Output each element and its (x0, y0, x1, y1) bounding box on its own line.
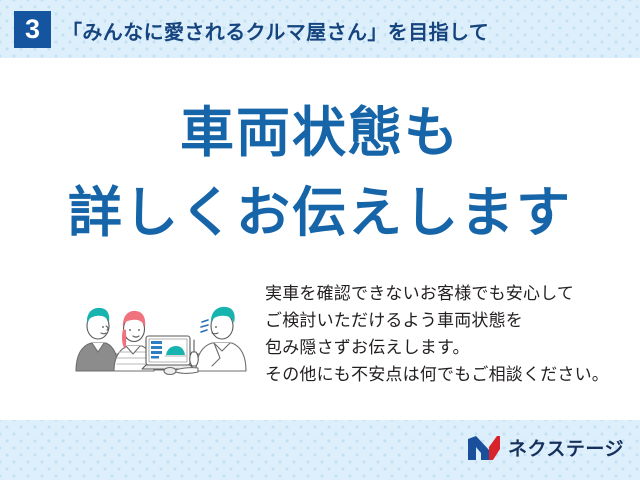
advertisement-page: 3 「みんなに愛されるクルマ屋さん」を目指して 車両状態も 詳しくお伝えします (0, 0, 640, 480)
section-number-badge: 3 (14, 11, 51, 48)
nexstage-n-logo-icon (467, 435, 501, 461)
body-copy: 実車を確認できないお客様でも安心して ご検討いただけるよう車両状態を 包み隠さず… (265, 280, 615, 388)
consultation-illustration (62, 270, 252, 385)
consultation-illustration-svg (62, 270, 252, 385)
body-line: 包み隠さずお伝えします。 (265, 334, 615, 361)
header-title: 「みんなに愛されるクルマ屋さん」を目指して (62, 12, 489, 48)
headline-line-1: 車両状態も (0, 104, 640, 162)
body-line: 実車を確認できないお客様でも安心して (265, 280, 615, 307)
brand-logo: ネクステージ (467, 434, 624, 461)
brand-name: ネクステージ (508, 434, 624, 461)
headline-line-2: 詳しくお伝えします (0, 184, 640, 242)
footer-bar: ネクステージ (0, 420, 640, 480)
body-line: その他にも不安点は何でもご相談ください。 (265, 361, 615, 388)
header-bar: 3 「みんなに愛されるクルマ屋さん」を目指して (0, 0, 640, 58)
body-line: ご検討いただけるよう車両状態を (265, 307, 615, 334)
content-card: 車両状態も 詳しくお伝えします (0, 58, 640, 420)
